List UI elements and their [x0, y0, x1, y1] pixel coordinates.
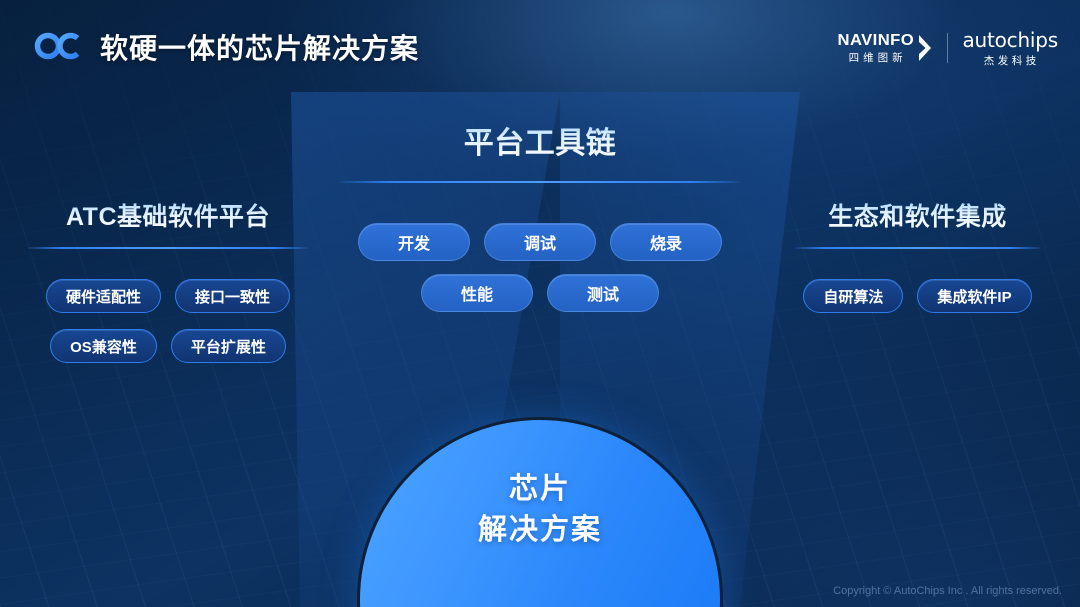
pill-item[interactable]: 集成软件IP: [917, 279, 1031, 313]
brand-logos: NAVINFO 四维图新 autochips 杰发科技: [839, 25, 1058, 71]
pill-item[interactable]: 开发: [358, 223, 470, 261]
column-right-pills: 自研算法 集成软件IP: [795, 279, 1040, 313]
column-center-heading: 平台工具链: [340, 118, 740, 162]
pill-row: 开发 调试 烧录: [340, 223, 740, 261]
slide-header: 软硬一体的芯片解决方案 NAVINFO 四维图新 autochips 杰发科技: [0, 0, 1080, 92]
column-center-divider: [340, 181, 740, 183]
pill-item[interactable]: 接口一致性: [175, 279, 290, 313]
navinfo-cn-label: 四维图新: [845, 53, 907, 64]
page-title: 软硬一体的芯片解决方案: [100, 27, 419, 67]
autochips-logo: autochips 杰发科技: [962, 30, 1058, 67]
pill-item[interactable]: 性能: [421, 274, 533, 312]
pill-row: OS兼容性 平台扩展性: [28, 329, 308, 363]
pill-item[interactable]: 测试: [547, 274, 659, 312]
autochips-en-label: autochips: [962, 30, 1058, 50]
brand-divider: [947, 33, 948, 63]
column-platform-toolchain: 平台工具链 开发 调试 烧录 性能 测试: [340, 118, 740, 312]
slide-canvas: 软硬一体的芯片解决方案 NAVINFO 四维图新 autochips 杰发科技 …: [0, 0, 1080, 607]
chevron-right-icon: [917, 33, 933, 63]
pill-item[interactable]: 平台扩展性: [171, 329, 286, 363]
circle-label-line2: 解决方案: [357, 510, 723, 551]
navinfo-en-label: NAVINFO: [837, 33, 914, 49]
copyright-text: Copyright © AutoChips Inc . All rights r…: [833, 585, 1062, 597]
pill-row: 自研算法 集成软件IP: [795, 279, 1040, 313]
oc-logo-icon: [34, 32, 84, 60]
column-atc-platform: ATC基础软件平台 硬件适配性 接口一致性 OS兼容性 平台扩展性: [28, 197, 308, 363]
pill-row: 硬件适配性 接口一致性: [28, 279, 308, 313]
navinfo-text: NAVINFO 四维图新: [839, 33, 913, 64]
pill-item[interactable]: OS兼容性: [50, 329, 157, 363]
navinfo-logo: NAVINFO 四维图新: [839, 33, 934, 64]
circle-label-line1: 芯片: [357, 469, 723, 510]
column-right-heading: 生态和软件集成: [795, 197, 1040, 233]
pill-row: 性能 测试: [340, 274, 740, 312]
column-right-divider: [795, 247, 1040, 249]
column-left-heading: ATC基础软件平台: [28, 197, 308, 233]
column-ecosystem-integration: 生态和软件集成 自研算法 集成软件IP: [795, 197, 1040, 313]
pill-item[interactable]: 调试: [484, 223, 596, 261]
column-left-pills: 硬件适配性 接口一致性 OS兼容性 平台扩展性: [28, 279, 308, 363]
autochips-cn-label: 杰发科技: [981, 56, 1040, 67]
circle-label: 芯片 解决方案: [357, 469, 723, 551]
pill-item[interactable]: 烧录: [610, 223, 722, 261]
chip-solution-circle: 芯片 解决方案: [357, 417, 723, 607]
column-center-pills: 开发 调试 烧录 性能 测试: [340, 223, 740, 312]
pill-item[interactable]: 自研算法: [803, 279, 903, 313]
pill-item[interactable]: 硬件适配性: [46, 279, 161, 313]
column-left-divider: [28, 247, 308, 249]
